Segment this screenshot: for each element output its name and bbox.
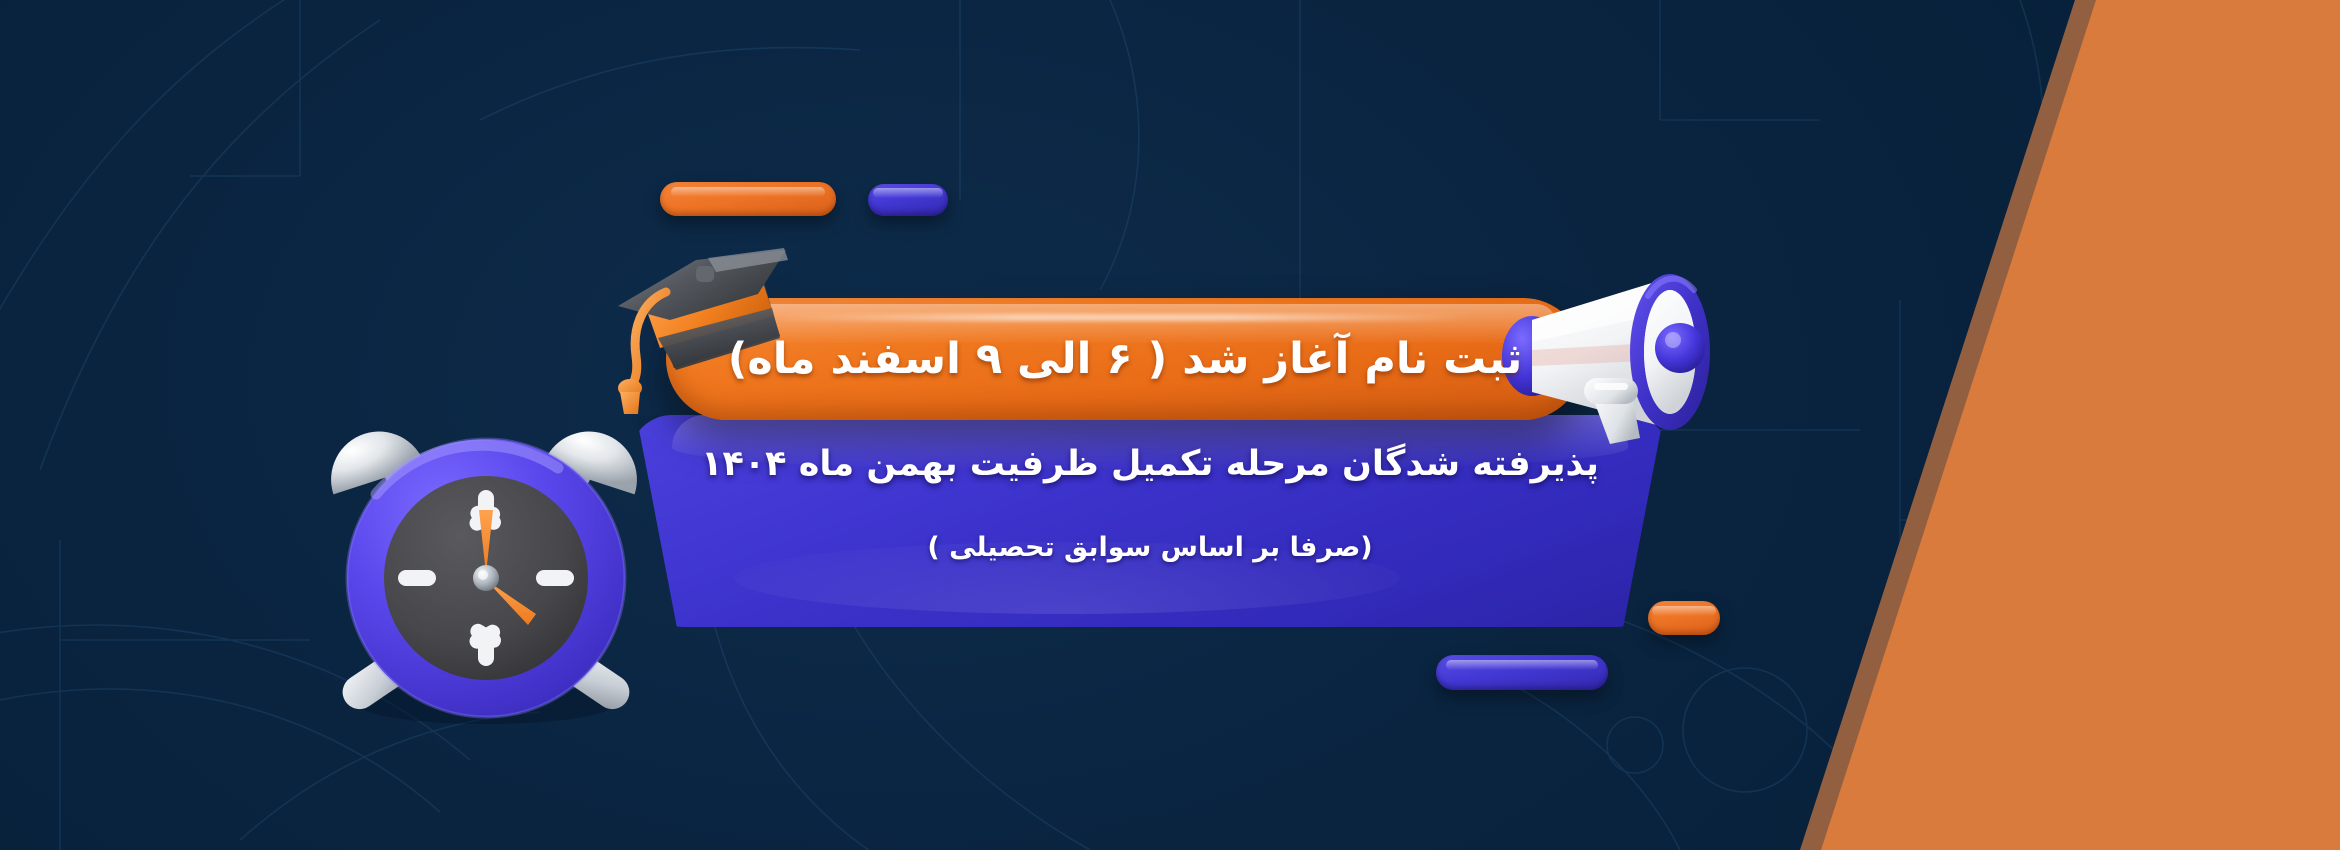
- headline-text: ثبت نام آغاز شد ( ۶ الی ۹ اسفند ماه): [666, 298, 1584, 420]
- decorative-pill-bottom-blue: [1436, 655, 1608, 690]
- decorative-pill-top-blue: [868, 184, 948, 216]
- subline-text: پذیرفته شدگان مرحله تکمیل ظرفیت بهمن ماه…: [640, 444, 1660, 484]
- alarm-clock-icon: [300, 398, 660, 738]
- decorative-pill-bottom-orange: [1648, 601, 1720, 635]
- decorative-pill-top-orange: [660, 182, 836, 216]
- noteline-text: (صرفا بر اساس سوابق تحصیلی ): [640, 532, 1660, 563]
- banner-root: ثبت نام آغاز شد ( ۶ الی ۹ اسفند ماه) پذی…: [0, 0, 2340, 850]
